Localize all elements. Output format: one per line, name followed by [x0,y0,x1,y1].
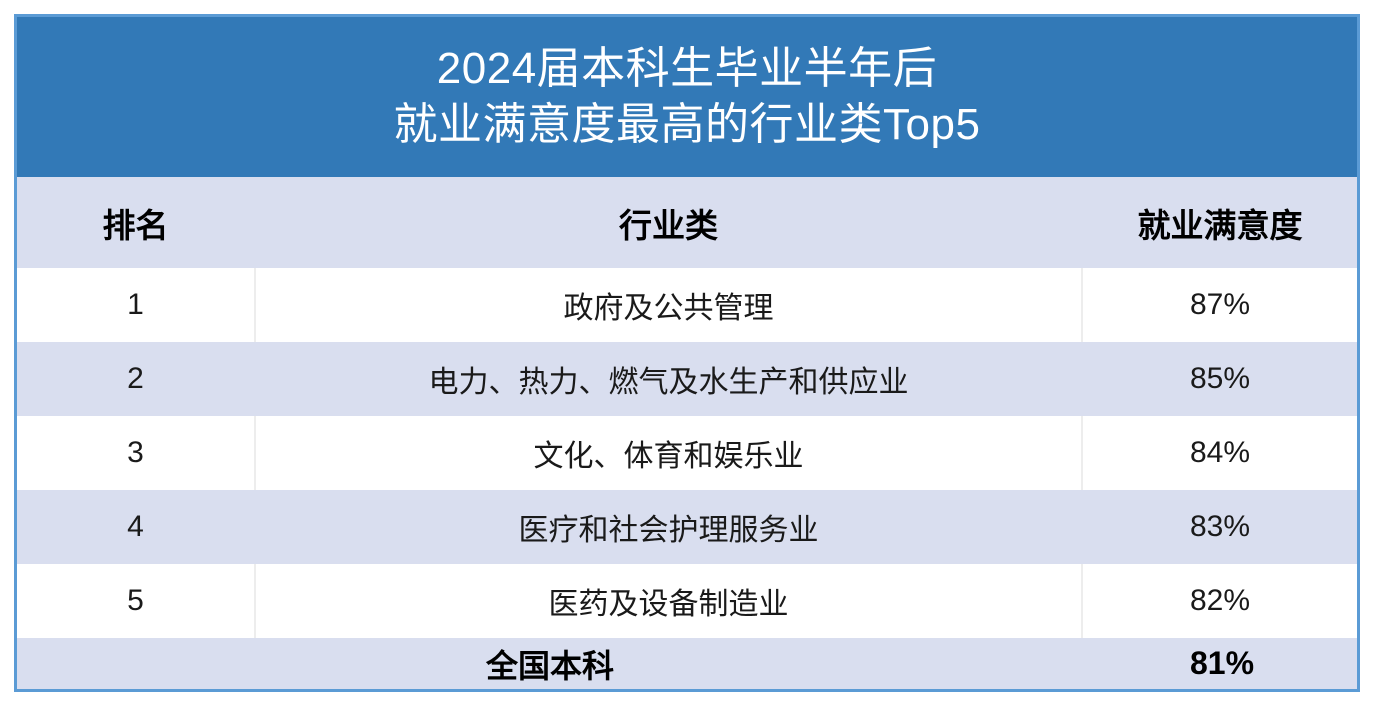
cell-satisfaction: 84% [1083,436,1357,470]
cell-industry: 医药及设备制造业 [256,579,1081,623]
column-header-satisfaction: 就业满意度 [1083,199,1357,247]
cell-industry: 电力、热力、燃气及水生产和供应业 [256,357,1081,401]
cell-industry: 医疗和社会护理服务业 [256,505,1081,549]
table-title-banner: 2024届本科生毕业半年后 就业满意度最高的行业类Top5 [17,17,1357,177]
cell-industry: 文化、体育和娱乐业 [256,431,1081,475]
column-header-industry: 行业类 [256,199,1081,247]
table-row: 1 政府及公共管理 87% [17,268,1357,342]
footer-label: 全国本科 [17,641,1083,687]
table-row: 2 电力、热力、燃气及水生产和供应业 85% [17,342,1357,416]
cell-rank: 4 [17,510,254,544]
screenshot-root: 2024届本科生毕业半年后 就业满意度最高的行业类Top5 排名 行业类 就业满… [0,0,1374,716]
footer-satisfaction: 81% [1085,645,1359,682]
cell-satisfaction: 82% [1083,584,1357,618]
cell-rank: 3 [17,436,254,470]
cell-satisfaction: 83% [1083,510,1357,544]
table-row: 5 医药及设备制造业 82% [17,564,1357,638]
table-row: 4 医疗和社会护理服务业 83% [17,490,1357,564]
column-header-rank: 排名 [17,199,254,247]
table-header-row: 排名 行业类 就业满意度 [17,177,1357,268]
cell-rank: 2 [17,362,254,396]
page-title-line-2: 就业满意度最高的行业类Top5 [394,97,981,153]
table-footer-row: 全国本科 81% [17,638,1357,689]
table-row: 3 文化、体育和娱乐业 84% [17,416,1357,490]
cell-rank: 1 [17,288,254,322]
cell-satisfaction: 87% [1083,288,1357,322]
cell-rank: 5 [17,584,254,618]
page-title-line-1: 2024届本科生毕业半年后 [437,41,937,97]
cell-satisfaction: 85% [1083,362,1357,396]
ranking-table: 2024届本科生毕业半年后 就业满意度最高的行业类Top5 排名 行业类 就业满… [14,14,1360,692]
cell-industry: 政府及公共管理 [256,283,1081,327]
